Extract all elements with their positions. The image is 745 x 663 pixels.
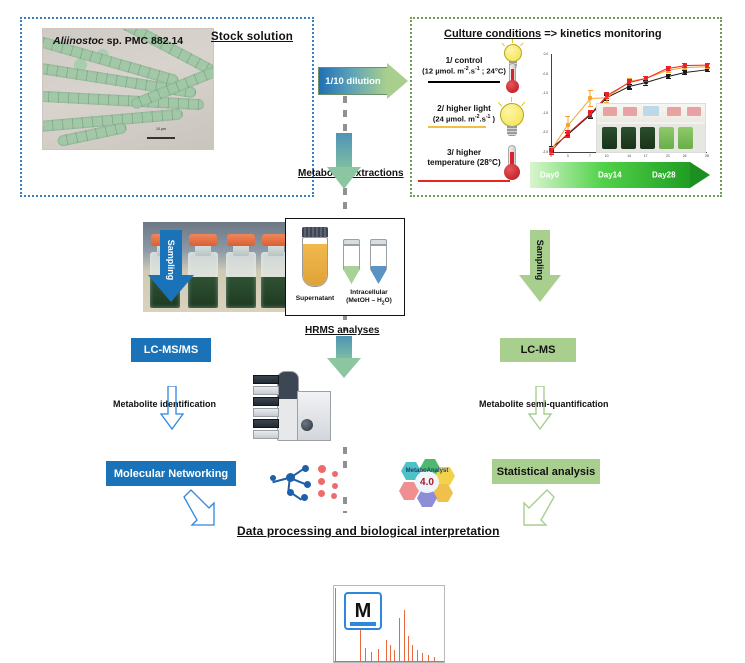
molecular-networking-to-caption-arrow — [182, 487, 232, 533]
chromatogram-icon: M — [333, 585, 445, 663]
condition-3-rule — [418, 180, 510, 182]
lc-ms-tag[interactable]: LC-MS — [500, 338, 576, 362]
extraction-tubes-box: Supernatant Intracellular (MetOH – H2O) — [285, 218, 405, 316]
chart-error-cap — [705, 68, 710, 69]
chart-data-point — [605, 93, 609, 97]
lc-msms-tag[interactable]: LC-MS/MS — [131, 338, 211, 362]
chart-error-cap — [682, 69, 687, 70]
chart-error-cap — [588, 90, 593, 91]
chart-data-point — [566, 131, 570, 135]
sampling-right-label: Sampling — [535, 240, 545, 281]
chart-error-cap — [565, 116, 570, 117]
organism-name: Aliinostoc sp. PMC 882.14 — [53, 35, 183, 47]
hrms-analyses-label: HRMS analyses — [305, 325, 379, 336]
molecular-networking-tag[interactable]: Molecular Networking — [106, 461, 236, 486]
sampling-left-label: Sampling — [166, 240, 176, 281]
intracellular-label: Intracellular (MetOH – H2O) — [338, 289, 400, 307]
bulb-icon — [500, 103, 526, 137]
metabolite-identification-arrow — [160, 386, 184, 430]
figure-caption: Data processing and biological interpret… — [237, 524, 500, 538]
condition-2-line2: (24 µmol. m-2.s-1 ) — [414, 114, 514, 124]
flow-connector — [343, 497, 347, 513]
stock-solution-title: Stock solution — [211, 31, 293, 43]
chart-data-point — [644, 76, 648, 80]
intracellular-label-line2: (MetOH – H2O) — [338, 297, 400, 307]
dilution-arrow: 1/10 dilution — [318, 67, 408, 95]
statistical-analysis-to-caption-arrow — [506, 487, 556, 533]
timeline-end: Day28 — [652, 171, 676, 180]
condition-2-rule — [428, 126, 486, 128]
flow-connector — [343, 447, 347, 469]
chart-error-cap — [588, 117, 593, 118]
mass-spectrometer-icon — [253, 369, 335, 441]
statistical-analysis-tag[interactable]: Statistical analysis — [492, 459, 600, 484]
dilution-arrow-label: 1/10 dilution — [318, 67, 388, 95]
condition-1-line2: (12 µmol. m-2.s-1 ; 24°C) — [414, 66, 514, 76]
chart-data-point — [549, 149, 553, 153]
timeline-start: Day0 — [540, 171, 559, 180]
chart-data-point — [627, 80, 631, 84]
metabolite-semiquant-arrow — [528, 386, 552, 430]
timeline-mid: Day14 — [598, 171, 622, 180]
condition-3: 3/ higher temperature (28°C) — [410, 148, 518, 167]
chart-data-point — [588, 96, 592, 100]
condition-1-rule — [428, 81, 500, 83]
condition-2-line1: 2/ higher light — [414, 104, 514, 113]
chart-error-cap — [666, 72, 671, 73]
incubator-photo — [596, 103, 706, 153]
chart-data-point — [666, 74, 670, 78]
flow-connector — [343, 188, 347, 210]
network-graph-icon — [268, 463, 342, 505]
chart-data-point — [588, 112, 592, 116]
chart-error-cap — [682, 74, 687, 75]
scale-bar: 10 µm — [147, 117, 175, 139]
condition-3-line1: 3/ higher — [410, 148, 518, 157]
chart-data-point — [683, 63, 687, 67]
chart-error-cap — [666, 78, 671, 79]
chart-data-point — [683, 70, 687, 74]
condition-1: 1/ control (12 µmol. m-2.s-1 ; 24°C) — [414, 56, 514, 76]
extraction-down-arrow — [327, 133, 361, 189]
chart-error-cap — [643, 81, 648, 82]
chart-error-cap — [588, 106, 593, 107]
supernatant-tube-icon — [302, 227, 328, 287]
chart-error-cap — [565, 136, 570, 137]
culture-conditions-title: Culture conditions => kinetics monitorin… — [444, 28, 662, 40]
condition-1-line1: 1/ control — [414, 56, 514, 65]
chart-error-cap — [604, 98, 609, 99]
sampling-arrow-left[interactable]: Sampling — [148, 230, 194, 302]
chart-data-point — [705, 63, 709, 67]
metaboanalyst-logo-icon: 4.0 MetaboAnalyst — [395, 458, 459, 508]
timeline-arrow: Day0 Day14 Day28 — [530, 162, 710, 188]
intracellular-label-line1: Intracellular — [338, 289, 400, 297]
condition-2: 2/ higher light (24 µmol. m-2.s-1 ) — [414, 104, 514, 124]
chart-error-cap — [705, 67, 710, 68]
intracellular-tube-blue-icon — [370, 239, 387, 284]
mzmine-badge-icon: M — [344, 592, 382, 630]
chart-error-cap — [705, 71, 710, 72]
chart-data-point — [566, 123, 570, 127]
intracellular-tube-green-icon — [343, 239, 360, 284]
micrograph-image: Aliinostoc sp. PMC 882.14 10 µm — [42, 28, 214, 150]
condition-3-line2: temperature (28°C) — [410, 158, 518, 167]
chart-data-point — [666, 66, 670, 70]
chart-error-cap — [627, 85, 632, 86]
sampling-arrow-right[interactable]: Sampling — [519, 230, 561, 302]
thermometer-icon — [505, 63, 521, 95]
chart-error-cap — [666, 70, 671, 71]
chart-error-cap — [682, 67, 687, 68]
supernatant-label: Supernatant — [294, 295, 336, 302]
chart-error-cap — [643, 85, 648, 86]
chart-error-cap — [627, 88, 632, 89]
thermometer-icon — [503, 145, 521, 181]
flow-connector — [343, 96, 347, 138]
chart-error-cap — [549, 154, 554, 155]
